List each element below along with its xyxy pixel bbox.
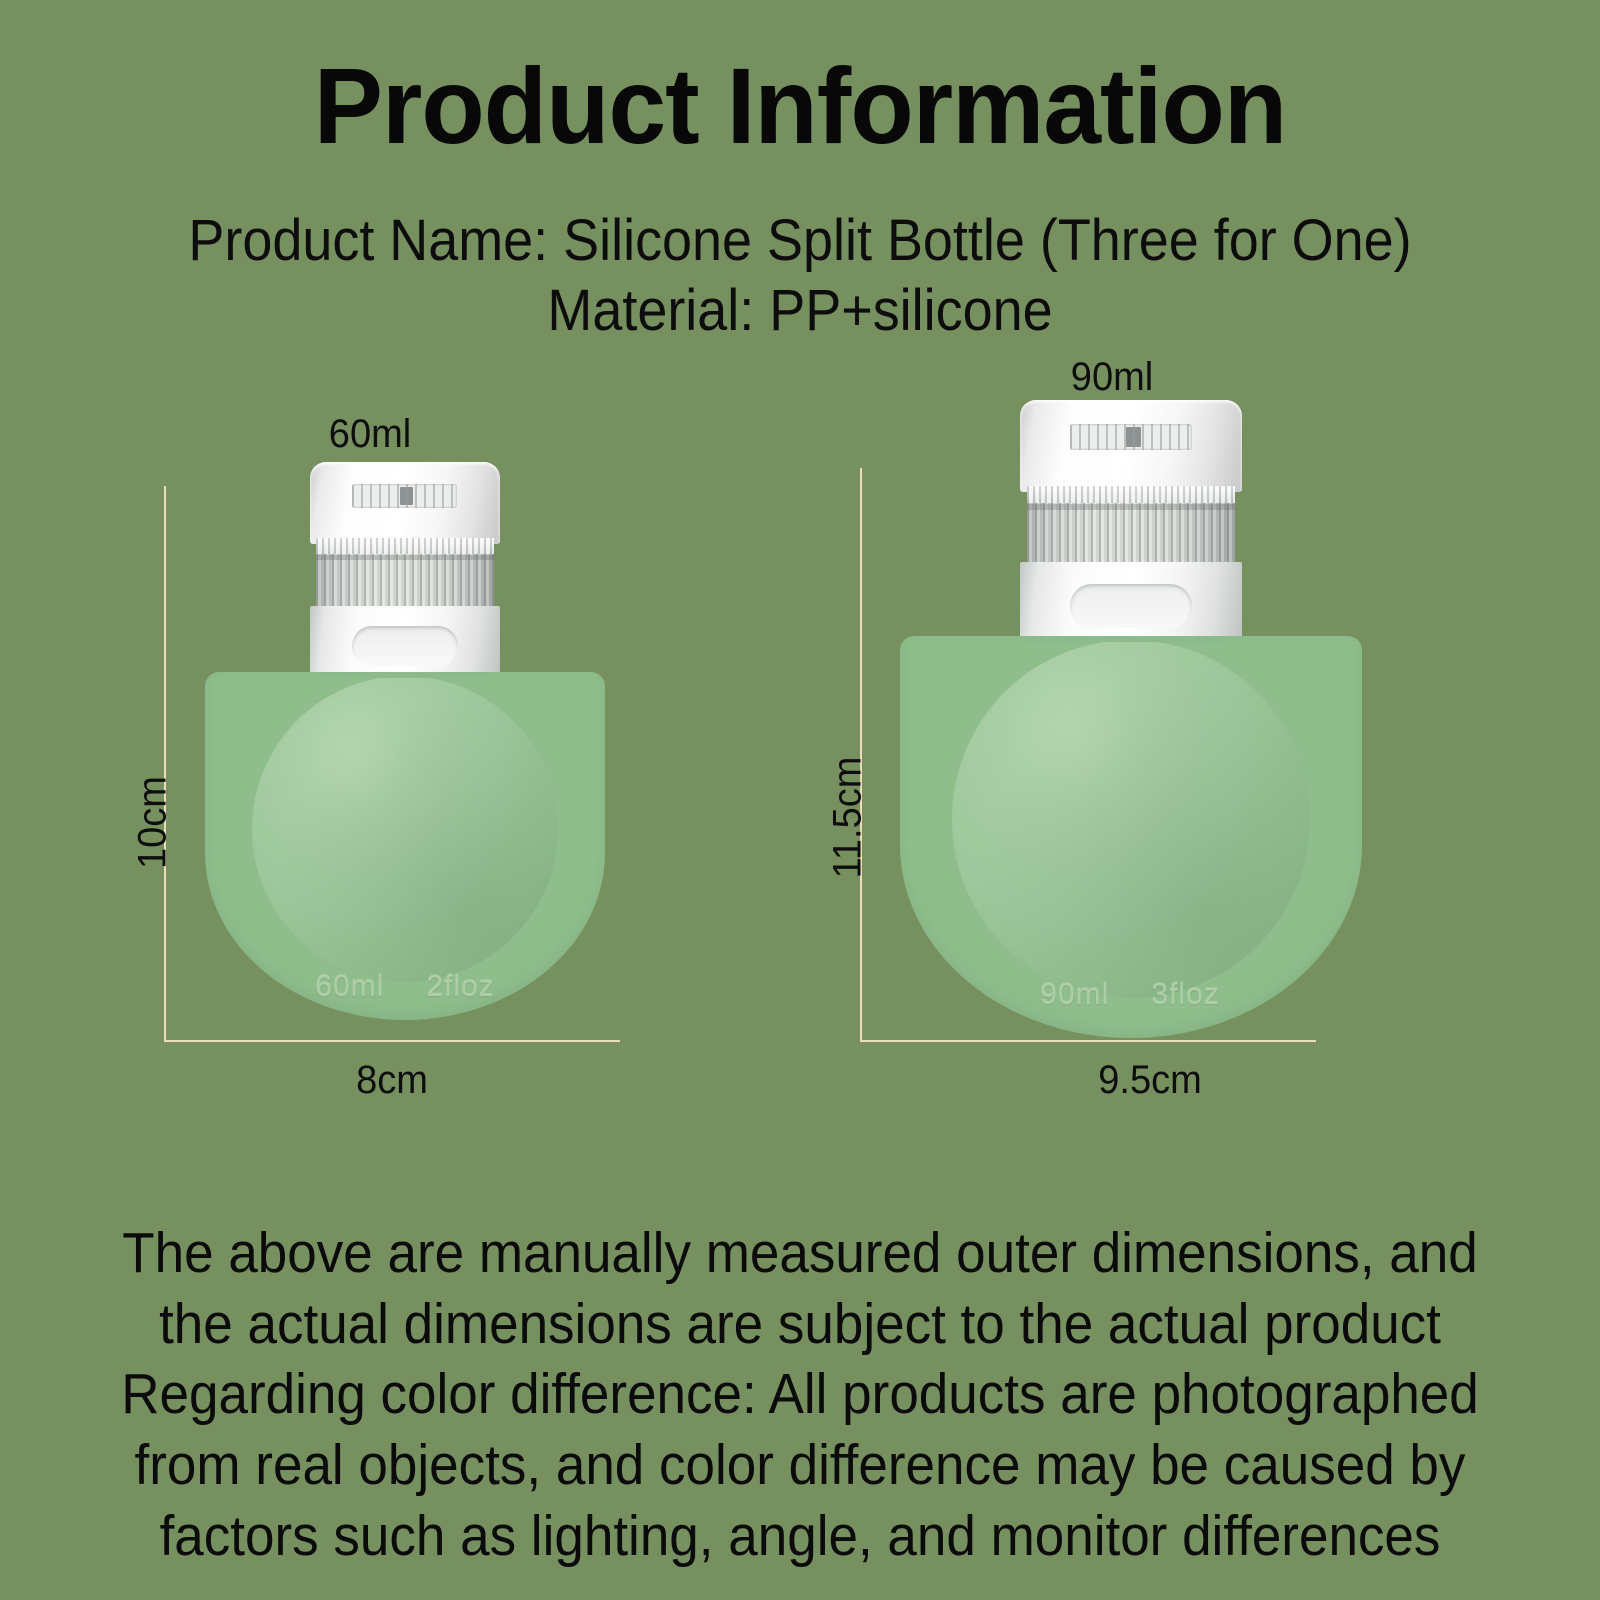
bottle-body-shading-60ml — [252, 676, 558, 982]
volume-label-60ml: 60ml — [285, 412, 456, 457]
cap-window-marker-90ml — [1126, 427, 1141, 447]
width-dimension-line-60ml — [164, 1040, 620, 1042]
disclaimer-line-1: The above are manually measured outer di… — [112, 1218, 1488, 1289]
width-label-90ml: 9.5cm — [1046, 1058, 1255, 1103]
disclaimer-line-5: factors such as lighting, angle, and mon… — [112, 1501, 1488, 1572]
height-label-60ml: 10cm — [131, 756, 176, 889]
bottle-body-60ml — [252, 676, 558, 982]
cap-barrel-band-90ml — [1027, 504, 1235, 510]
cap-ribbed-barrel-90ml — [1027, 486, 1235, 566]
pump-cap-60ml — [310, 462, 500, 678]
cap-barrel-lip-90ml — [1027, 486, 1235, 503]
cap-collar-90ml — [1020, 562, 1242, 646]
volume-label-90ml: 90ml — [1027, 355, 1198, 400]
width-label-60ml: 8cm — [297, 1058, 487, 1103]
disclaimer-line-3: Regarding color difference: All products… — [112, 1359, 1488, 1430]
disclaimer-line-4: from real objects, and color difference … — [112, 1430, 1488, 1501]
width-dimension-line-90ml — [860, 1040, 1316, 1042]
product-information-page: Product Information Product Name: Silico… — [0, 0, 1600, 1600]
disclaimer-line-2: the actual dimensions are subject to the… — [112, 1289, 1488, 1360]
bottle-neck-chord-90ml — [1028, 636, 1224, 642]
cap-barrel-band-60ml — [316, 555, 494, 560]
disclaimer-block: The above are manually measured outer di… — [112, 1218, 1488, 1571]
cap-barrel-lip-60ml — [316, 538, 494, 554]
cap-collar-oval-indent-60ml — [352, 626, 458, 666]
bottle-body-90ml — [952, 640, 1310, 998]
cap-ribbed-barrel-60ml — [316, 538, 494, 610]
bottle-body-shading-90ml — [952, 640, 1310, 998]
height-label-90ml: 11.5cm — [826, 732, 871, 903]
cap-window-90ml — [1070, 424, 1192, 450]
bottle-neck-chord-60ml — [322, 672, 488, 678]
pump-cap-90ml — [1020, 400, 1242, 640]
cap-window-marker-60ml — [400, 487, 413, 505]
cap-window-60ml — [352, 484, 457, 508]
cap-collar-oval-indent-90ml — [1070, 584, 1192, 628]
cap-collar-60ml — [310, 606, 500, 682]
